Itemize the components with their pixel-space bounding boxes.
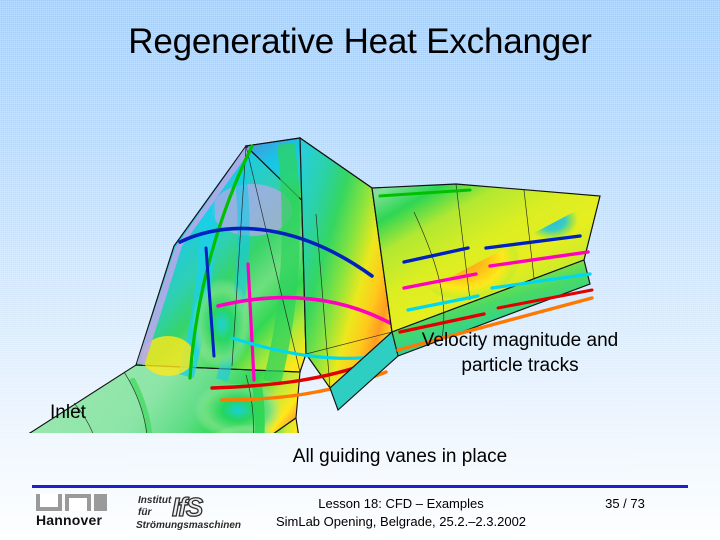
guiding-vanes-caption: All guiding vanes in place [180, 444, 620, 469]
uni-hannover-logo: Hannover [36, 494, 128, 528]
ifs-line-fuer: für [138, 507, 151, 518]
footer-divider [32, 485, 688, 488]
slide-footer: Hannover Institut für Strömungsmaschinen… [0, 492, 720, 540]
footer-event-info: SimLab Opening, Belgrade, 25.2.–2.3.2002 [216, 513, 586, 531]
footer-page-number: 35 / 73 [590, 495, 660, 513]
bend-section [136, 138, 396, 400]
footer-lesson-title: Lesson 18: CFD – Examples [236, 495, 566, 513]
cfd-visualization [0, 88, 720, 433]
uni-wordmark-blocks [36, 494, 128, 511]
velocity-caption: Velocity magnitude and particle tracks [386, 328, 654, 378]
ifs-monogram: IfS [172, 492, 202, 523]
inlet-label: Inlet [50, 400, 86, 425]
page-title: Regenerative Heat Exchanger [0, 22, 720, 62]
uni-letter-u-icon [36, 494, 62, 511]
institution-logo: Hannover Institut für Strömungsmaschinen… [36, 494, 232, 536]
slide: Regenerative Heat Exchanger [0, 0, 720, 540]
uni-letter-n-icon [65, 494, 91, 511]
uni-letter-i-icon [94, 494, 107, 511]
ifs-line-institut: Institut [138, 495, 171, 506]
logo-university-name: Hannover [36, 512, 128, 528]
